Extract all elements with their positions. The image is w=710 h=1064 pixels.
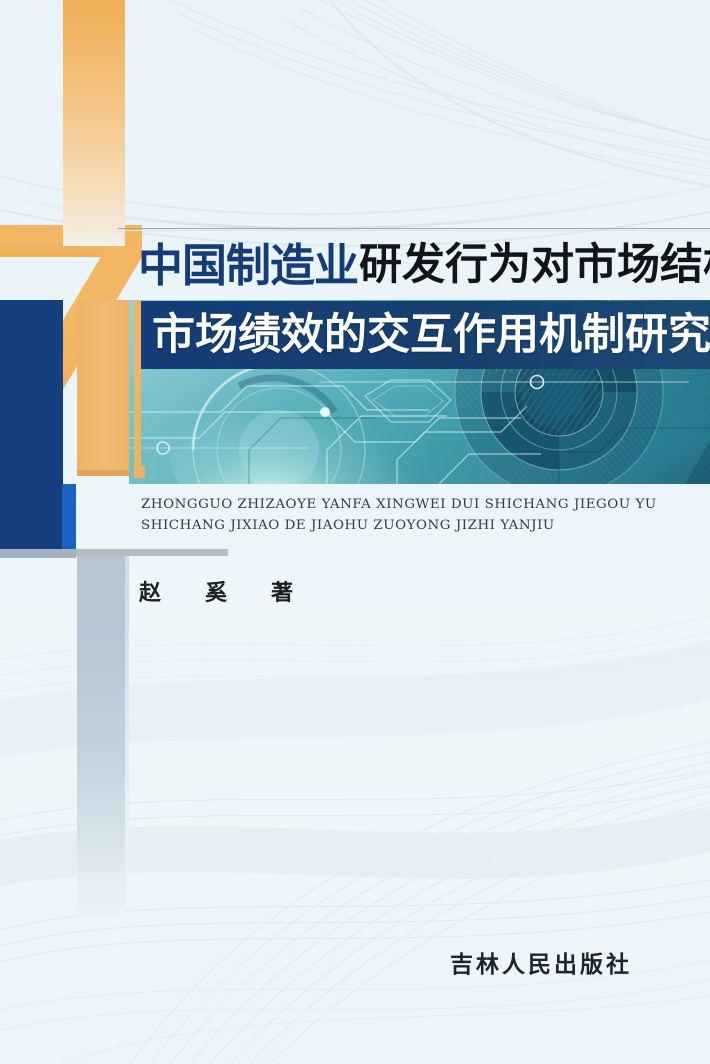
decorative-navy-block <box>0 300 63 549</box>
decorative-orange-plate <box>77 300 129 475</box>
pinyin-line-1: ZHONGGUO ZHIZAOYE YANFA XINGWEI DUI SHIC… <box>141 494 701 515</box>
decorative-blue-accent <box>62 484 76 549</box>
author-byline: 赵 奚 著 <box>139 575 304 607</box>
pinyin-line-2: SHICHANG JIXIAO DE JIAOHU ZUOYONG JIZHI … <box>141 515 701 536</box>
header-divider-rule-light <box>118 230 710 231</box>
book-cover: 中国制造业 研发行为对市场结构与 市场绩效的交互作用机制研究 ZHONGGUO … <box>0 0 710 1064</box>
title-emphasis-text: 中国制造业 <box>138 243 358 288</box>
decorative-orange-stripe-tip <box>134 466 145 478</box>
header-divider-rule <box>118 228 710 229</box>
title-line2-text: 市场绩效的交互作用机制研究 <box>152 314 710 357</box>
decorative-grey-shadow-bar-dark <box>0 549 76 558</box>
decorative-gradient-bar <box>63 0 125 246</box>
book-title-line-1: 中国制造业 研发行为对市场结构与 <box>138 234 698 296</box>
decorative-orange-plate-foot <box>77 470 129 476</box>
book-title-line-2: 市场绩效的交互作用机制研究 <box>152 303 702 367</box>
title-rest-text: 研发行为对市场结构与 <box>359 244 710 287</box>
pinyin-subtitle: ZHONGGUO ZHIZAOYE YANFA XINGWEI DUI SHIC… <box>141 494 701 536</box>
publisher-name: 吉林人民出版社 <box>0 945 632 979</box>
decorative-grey-column-edge <box>125 556 129 886</box>
decorative-grey-column <box>77 556 125 916</box>
decorative-orange-stripe <box>134 300 141 470</box>
